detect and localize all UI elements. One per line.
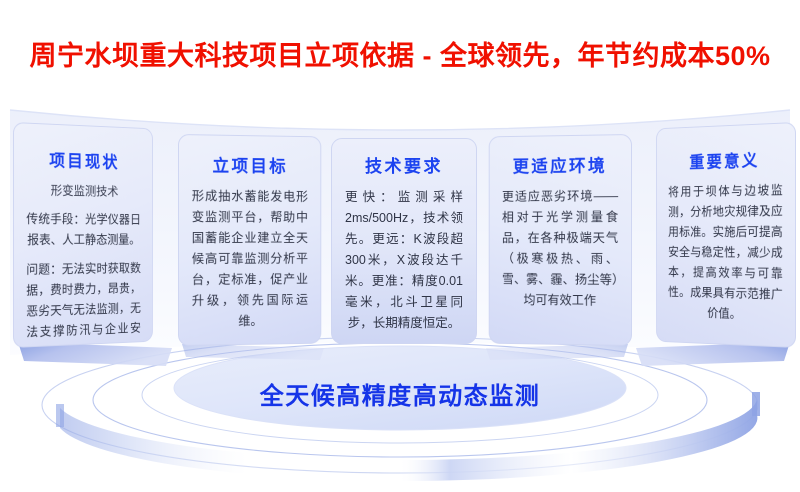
card-title: 技术要求: [345, 156, 463, 178]
card-title: 重要意义: [668, 149, 783, 174]
card-subtitle: 形变监测技术: [26, 180, 141, 202]
card-paragraph: 更适应恶劣环境——相对于光学测量食品，在各种极端天气（极寒极热、雨、雪、雾、霾、…: [502, 186, 618, 312]
info-card-project-status[interactable]: 项目现状 形变监测技术 传统手段：光学仪器日报表、人工静态测量。 问题：无法实时…: [13, 122, 153, 348]
info-card-environment-adaptability[interactable]: 更适应环境 更适应恶劣环境——相对于光学测量食品，在各种极端天气（极寒极热、雨、…: [489, 134, 632, 346]
card-paragraph: 传统手段：光学仪器日报表、人工静态测量。: [26, 209, 141, 251]
card-title: 项目现状: [26, 149, 141, 174]
info-card-technical-requirements[interactable]: 技术要求 更快：监测采样2ms/500Hz，技术领先。更远：K波段超300米，X…: [331, 138, 477, 344]
card-paragraph: 问题：无法实时获取数据，费时费力，昂贵，恶劣天气无法监测，无法支撑防汛与企业安全…: [26, 259, 141, 348]
card-title: 更适应环境: [502, 155, 618, 178]
card-paragraph: 形成抽水蓄能发电形变监测平台，帮助中国蓄能企业建立全天候高可靠监测分析平台，定标…: [192, 186, 308, 333]
card-paragraph: 将用于坝体与边坡监测，分析地灾规律及应用标准。实施后可提高安全与稳定性，减少成本…: [668, 180, 783, 326]
page-title: 周宁水坝重大科技项目立项依据 - 全球领先，年节约成本50%: [0, 39, 800, 73]
platform-banner-label: 全天候高精度高动态监测: [0, 376, 800, 411]
slide-canvas: 周宁水坝重大科技项目立项依据 - 全球领先，年节约成本50% 项目现状 形变监测…: [0, 0, 800, 492]
info-card-significance[interactable]: 重要意义 将用于坝体与边坡监测，分析地灾规律及应用标准。实施后可提高安全与稳定性…: [656, 122, 796, 348]
info-card-project-goal[interactable]: 立项目标 形成抽水蓄能发电形变监测平台，帮助中国蓄能企业建立全天候高可靠监测分析…: [178, 134, 321, 346]
card-title: 立项目标: [192, 155, 308, 178]
card-paragraph: 更快：监测采样2ms/500Hz，技术领先。更远：K波段超300米，X波段达千米…: [345, 187, 463, 334]
